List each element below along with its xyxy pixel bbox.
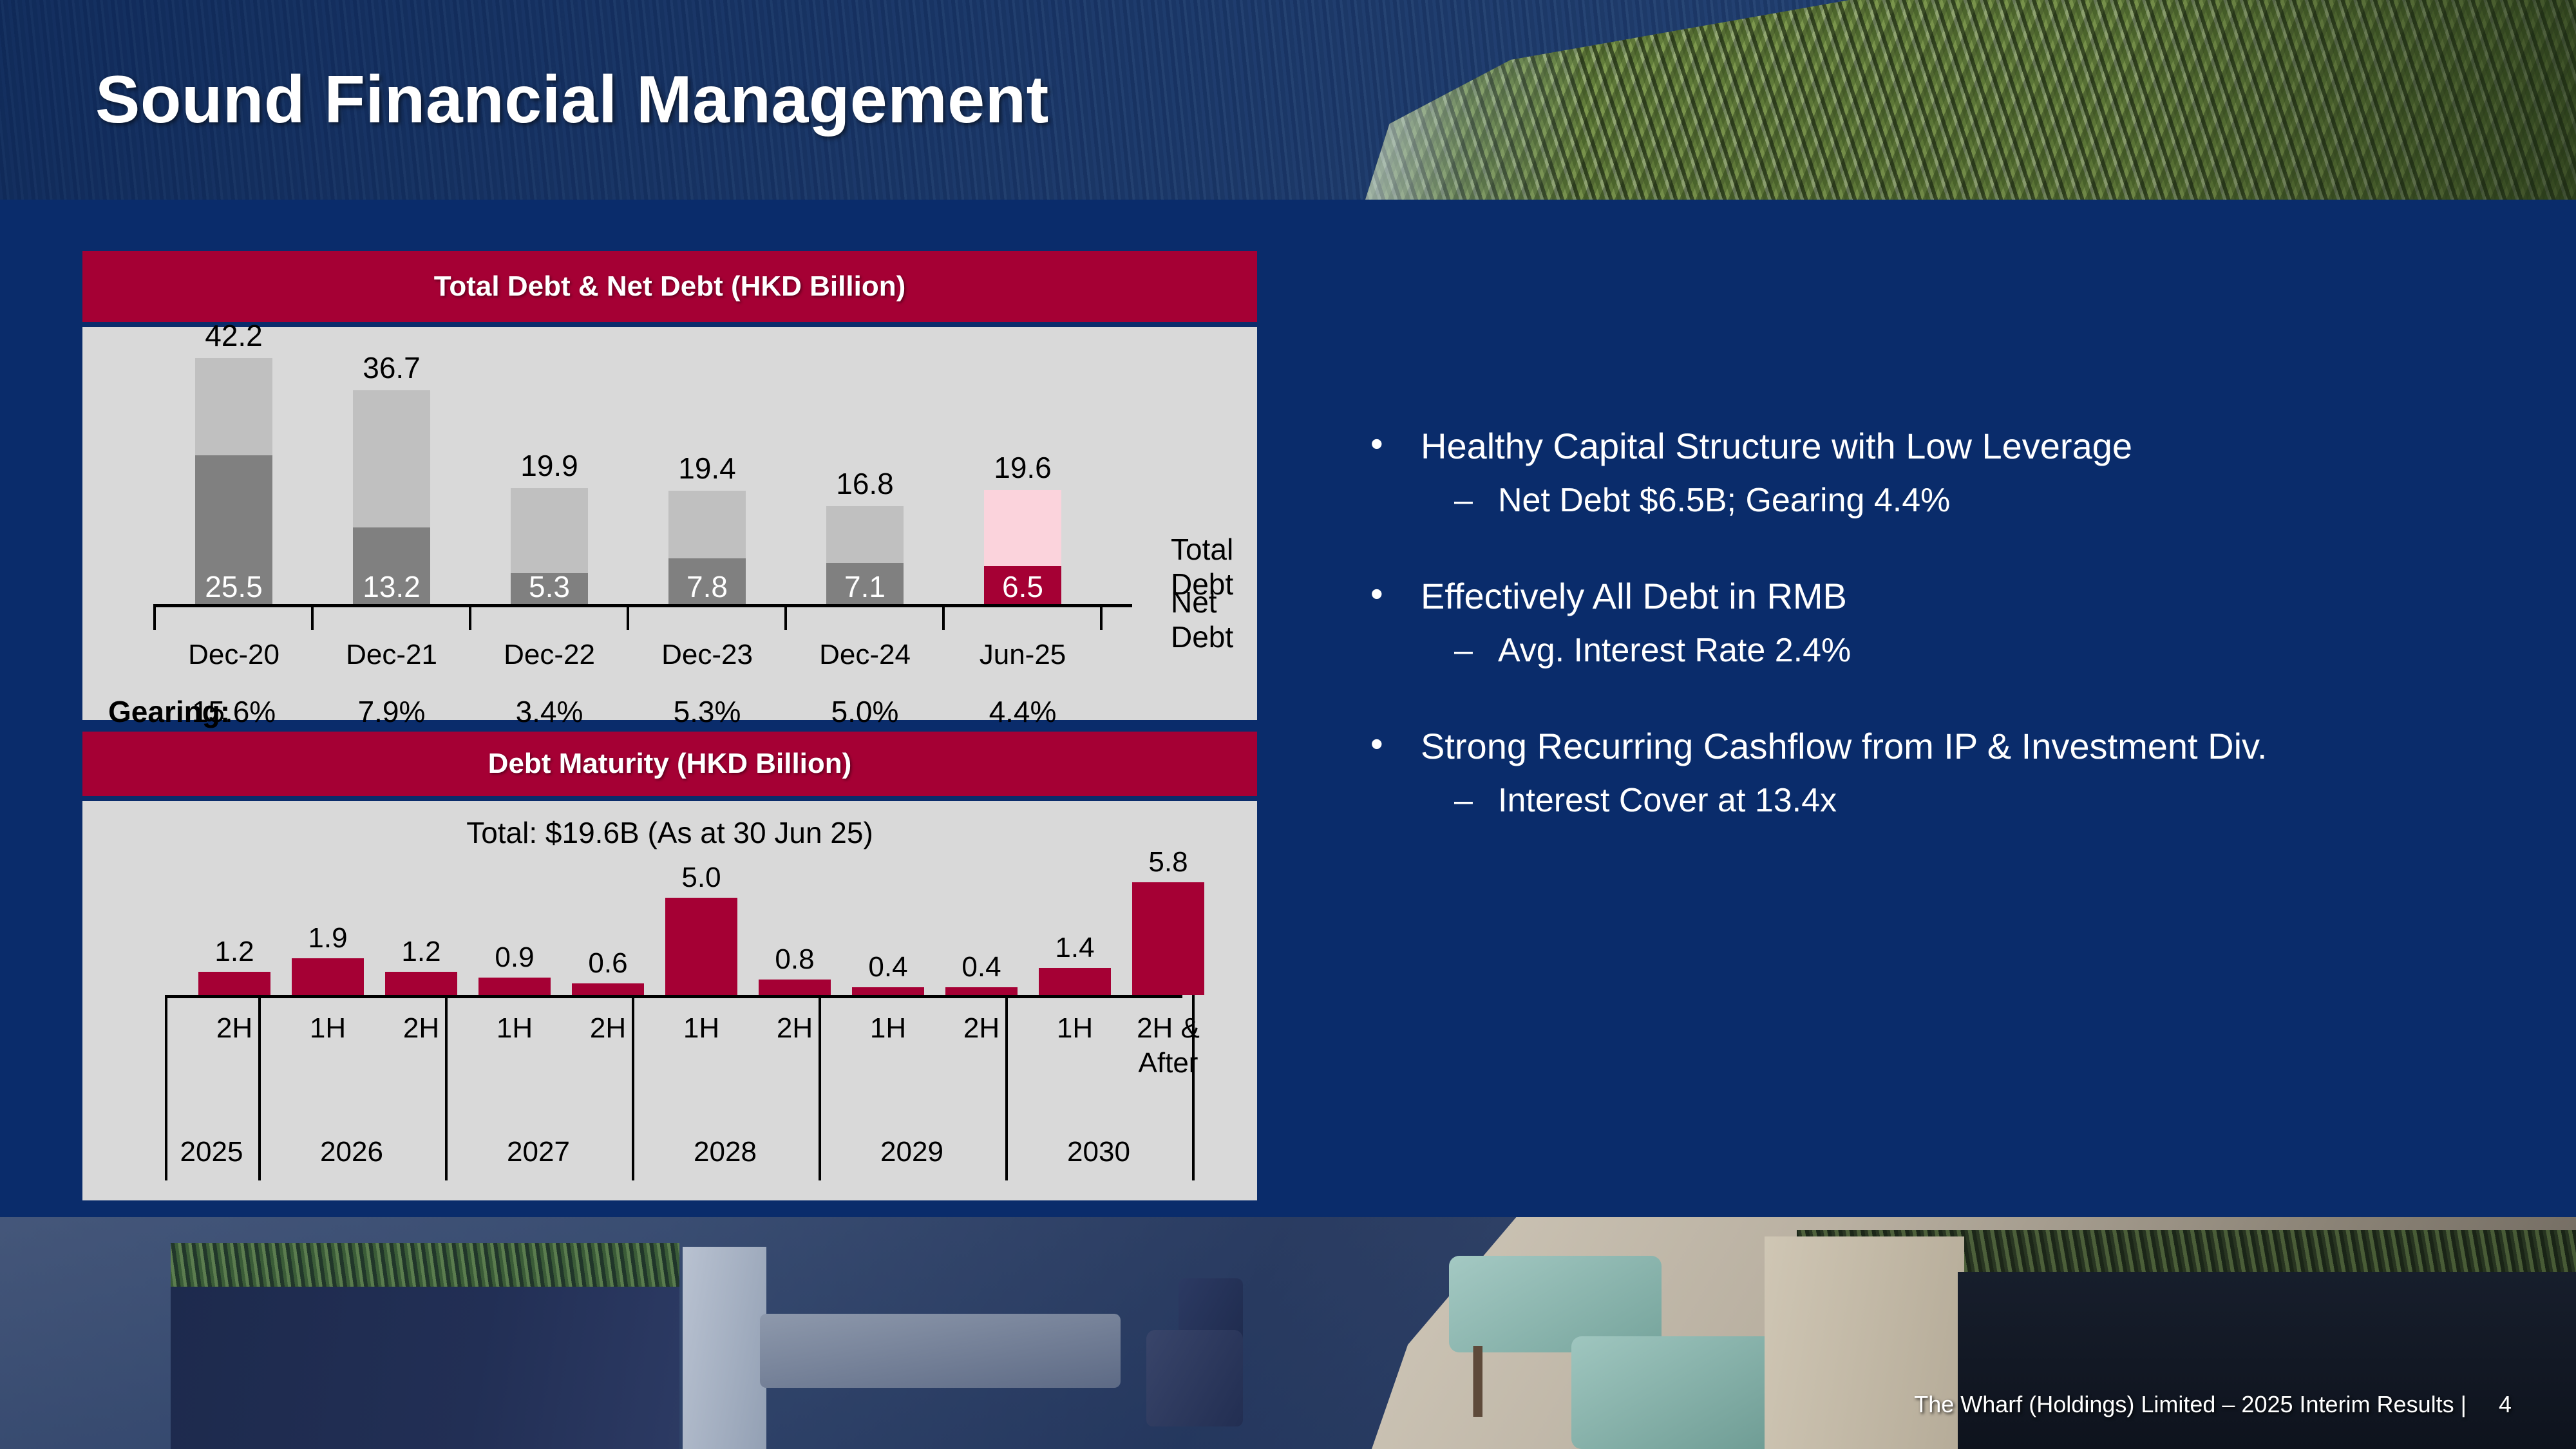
maturity-value-label: 0.8 [775,943,814,976]
total-debt-chart-card: Total Debt & Net Debt (HKD Billion) 42.2… [82,251,1257,720]
bullet-primary-text: Healthy Capital Structure with Low Lever… [1421,426,2132,466]
total-debt-bars: 42.225.536.713.219.95.319.47.816.87.119.… [82,327,1257,604]
bullet-dot-icon: • [1370,422,1383,464]
bullet-secondary-text: Net Debt $6.5B; Gearing 4.4% [1498,482,1950,519]
total-debt-value-label: 42.2 [205,318,263,353]
maturity-bar-column: 5.8 [1132,882,1204,995]
debt-category-label: Dec-21 [314,639,469,671]
gearing-value: 4.4% [945,694,1100,729]
bullet-secondary: –Avg. Interest Rate 2.4% [1359,631,2512,670]
maturity-bar-column: 1.4 [1039,968,1111,995]
debt-bar-column: 42.225.5 [195,358,272,604]
debt-axis-tick [942,604,945,630]
debt-bar-column: 19.95.3 [511,488,588,604]
maturity-axis-line [165,995,1182,998]
bullet-dot-icon: • [1370,723,1383,764]
maturity-bar [572,983,644,995]
total-debt-value-label: 19.9 [520,448,578,483]
bullet-secondary-text: Avg. Interest Rate 2.4% [1498,632,1851,669]
debt-axis-tick [153,604,156,630]
maturity-value-label: 1.2 [214,936,254,968]
gearing-value: 3.4% [472,694,627,729]
gearing-value: 5.3% [630,694,784,729]
total-debt-segment [826,506,904,563]
maturity-bar [1132,882,1204,995]
maturity-bar [198,972,270,995]
debt-axis-tick [469,604,471,630]
bullet-secondary-text: Interest Cover at 13.4x [1498,782,1837,819]
maturity-bar [665,898,737,995]
bullet-primary: •Strong Recurring Cashflow from IP & Inv… [1359,725,2512,767]
dark-wall [1958,1272,2576,1449]
presentation-slide: Sound Financial Management Total Debt & … [0,0,2576,1449]
planter-box-second [683,1247,766,1449]
maturity-bar-column: 1.2 [385,972,457,995]
total-debt-segment [511,488,588,573]
maturity-bar [852,987,924,995]
maturity-bar-column: 0.4 [852,987,924,995]
page-number: 4 [2499,1391,2512,1418]
key-points-list: •Healthy Capital Structure with Low Leve… [1359,425,2512,875]
debt-axis-tick [1100,604,1103,630]
maturity-bar-column: 0.6 [572,983,644,995]
legend-net-debt: Net Debt [1171,585,1257,654]
total-debt-segment [195,358,272,455]
debt-maturity-card-header: Debt Maturity (HKD Billion) [82,732,1257,796]
gearing-value: 15.6% [156,694,311,729]
bullet-primary-text: Strong Recurring Cashflow from IP & Inve… [1421,726,2267,766]
debt-category-label: Dec-23 [630,639,784,671]
footer-label: The Wharf (Holdings) Limited – 2025 Inte… [1914,1391,2467,1417]
maturity-total-line: Total: $19.6B (As at 30 Jun 25) [82,815,1257,850]
net-debt-segment: 7.1 [826,563,904,604]
debt-bar-column: 19.66.5 [984,490,1061,604]
bullet-primary: •Healthy Capital Structure with Low Leve… [1359,425,2512,467]
maturity-bar-column: 0.8 [759,980,831,995]
debt-category-label: Dec-22 [472,639,627,671]
footer-text: The Wharf (Holdings) Limited – 2025 Inte… [1914,1391,2512,1418]
debt-axis-tick [627,604,629,630]
maturity-value-label: 5.0 [681,862,721,894]
maturity-value-label: 1.9 [308,922,347,954]
debt-bar-column: 16.87.1 [826,506,904,604]
lounge-chair-front [1571,1336,1784,1449]
debt-axis-tick [784,604,787,630]
gearing-value: 7.9% [314,694,469,729]
gearing-value: 5.0% [788,694,942,729]
total-debt-card-header: Total Debt & Net Debt (HKD Billion) [82,251,1257,322]
net-debt-segment: 5.3 [511,573,588,604]
maturity-bar-column: 1.2 [198,972,270,995]
page-title: Sound Financial Management [95,62,1049,138]
total-debt-segment [668,491,746,558]
maturity-year-label: 2027 [442,1136,635,1168]
maturity-bar [478,978,551,995]
net-debt-segment: 25.5 [195,455,272,604]
net-debt-segment: 7.8 [668,558,746,604]
maturity-year-label: 2029 [815,1136,1009,1168]
total-debt-card-body: 42.225.536.713.219.95.319.47.816.87.119.… [82,327,1257,720]
debt-category-label: Dec-24 [788,639,942,671]
planter-box [171,1287,679,1449]
debt-category-label: Dec-20 [156,639,311,671]
maturity-bar-column: 0.9 [478,978,551,995]
total-debt-value-label: 16.8 [836,466,894,501]
maturity-bar [292,958,364,995]
total-debt-segment [353,390,430,527]
debt-axis-line [153,604,1132,607]
maturity-bar-column: 5.0 [665,898,737,995]
debt-maturity-card-body: Total: $19.6B (As at 30 Jun 25) 1.21.91.… [82,801,1257,1200]
bullet-secondary: –Net Debt $6.5B; Gearing 4.4% [1359,481,2512,520]
total-debt-segment [984,490,1061,567]
debt-maturity-chart-card: Debt Maturity (HKD Billion) Total: $19.6… [82,732,1257,1200]
bullet-primary-text: Effectively All Debt in RMB [1421,576,1847,616]
debt-category-label: Jun-25 [945,639,1100,671]
maturity-bar-column: 0.4 [945,987,1018,995]
net-debt-segment: 13.2 [353,527,430,604]
total-debt-value-label: 19.4 [678,451,736,486]
maturity-bar [759,980,831,995]
debt-bar-column: 36.713.2 [353,390,430,604]
outdoor-stool [1146,1330,1243,1426]
total-debt-value-label: 19.6 [994,450,1052,485]
maturity-bars: 1.21.91.20.90.65.00.80.40.41.45.8 [82,863,1257,995]
bullet-dash-icon: – [1454,481,1473,520]
maturity-value-label: 0.4 [961,951,1001,983]
maturity-value-label: 0.6 [588,947,627,980]
maturity-value-label: 0.9 [495,942,534,974]
bullet-primary: •Effectively All Debt in RMB [1359,575,2512,617]
debt-axis-tick [311,604,314,630]
maturity-bar [1039,968,1111,995]
maturity-bar [945,987,1018,995]
bullet-dash-icon: – [1454,781,1473,820]
maturity-value-label: 1.4 [1055,932,1094,964]
bullet-secondary: –Interest Cover at 13.4x [1359,781,2512,820]
maturity-year-label: 2028 [629,1136,822,1168]
maturity-half-label: 2H &After [1110,1011,1226,1080]
maturity-value-label: 1.2 [401,936,440,968]
outdoor-bench [760,1314,1121,1388]
maturity-value-label: 0.4 [868,951,907,983]
net-debt-segment: 6.5 [984,566,1061,604]
maturity-bar-column: 1.9 [292,958,364,995]
maturity-bar [385,972,457,995]
bullet-dash-icon: – [1454,631,1473,670]
maturity-year-label: 2030 [1002,1136,1195,1168]
bullet-dot-icon: • [1370,573,1383,614]
planter-grass [171,1243,679,1289]
maturity-value-label: 5.8 [1148,846,1188,878]
maturity-year-label: 2026 [255,1136,448,1168]
total-debt-value-label: 36.7 [363,350,421,385]
debt-bar-column: 19.47.8 [668,491,746,604]
